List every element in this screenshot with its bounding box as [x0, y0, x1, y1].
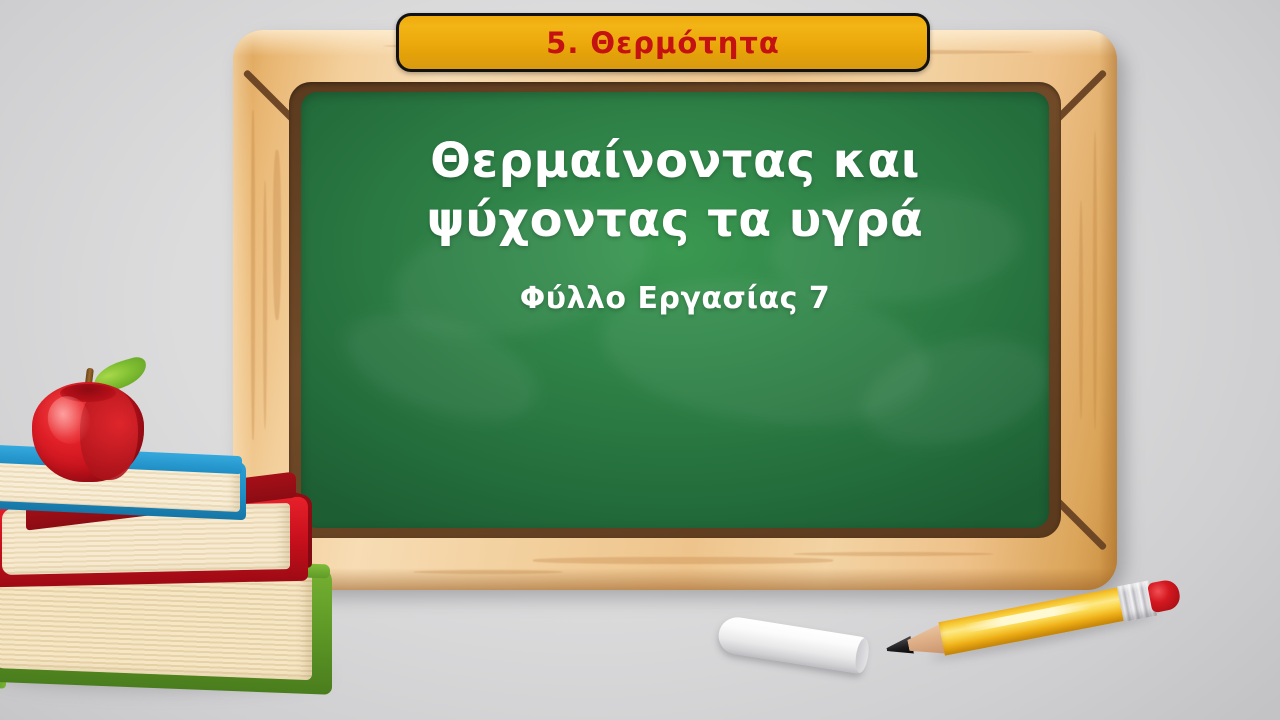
wood-grain [793, 552, 993, 556]
wood-grain [263, 180, 267, 430]
wood-grain [273, 150, 281, 320]
wood-grain [1079, 200, 1083, 420]
slide-canvas: Θερμαίνοντας και ψύχοντας τα υγρά Φύλλο … [0, 0, 1280, 720]
board-text-block: Θερμαίνοντας και ψύχοντας τα υγρά Φύλλο … [301, 132, 1049, 316]
frame-bottom-shadow [233, 568, 1117, 590]
pencil-eraser [1147, 578, 1182, 613]
apple-icon [26, 366, 150, 482]
wood-grain [413, 570, 563, 574]
frame-right-shadow [1099, 30, 1117, 590]
board-subtitle: Φύλλο Εργασίας 7 [301, 281, 1049, 316]
lesson-title-label: 5. Θερμότητα [546, 26, 780, 60]
wood-grain [533, 557, 833, 564]
chalk-icon [716, 615, 868, 675]
wood-grain [1093, 130, 1097, 430]
chalk-body [716, 615, 868, 675]
board-title: Θερμαίνοντας και ψύχοντας τα υγρά [301, 132, 1049, 249]
chalkboard: Θερμαίνοντας και ψύχοντας τα υγρά Φύλλο … [233, 30, 1117, 590]
wood-grain [251, 110, 255, 440]
chalkboard-surface: Θερμαίνοντας και ψύχοντας τα υγρά Φύλλο … [301, 92, 1049, 528]
lesson-title-banner[interactable]: 5. Θερμότητα [396, 13, 930, 72]
